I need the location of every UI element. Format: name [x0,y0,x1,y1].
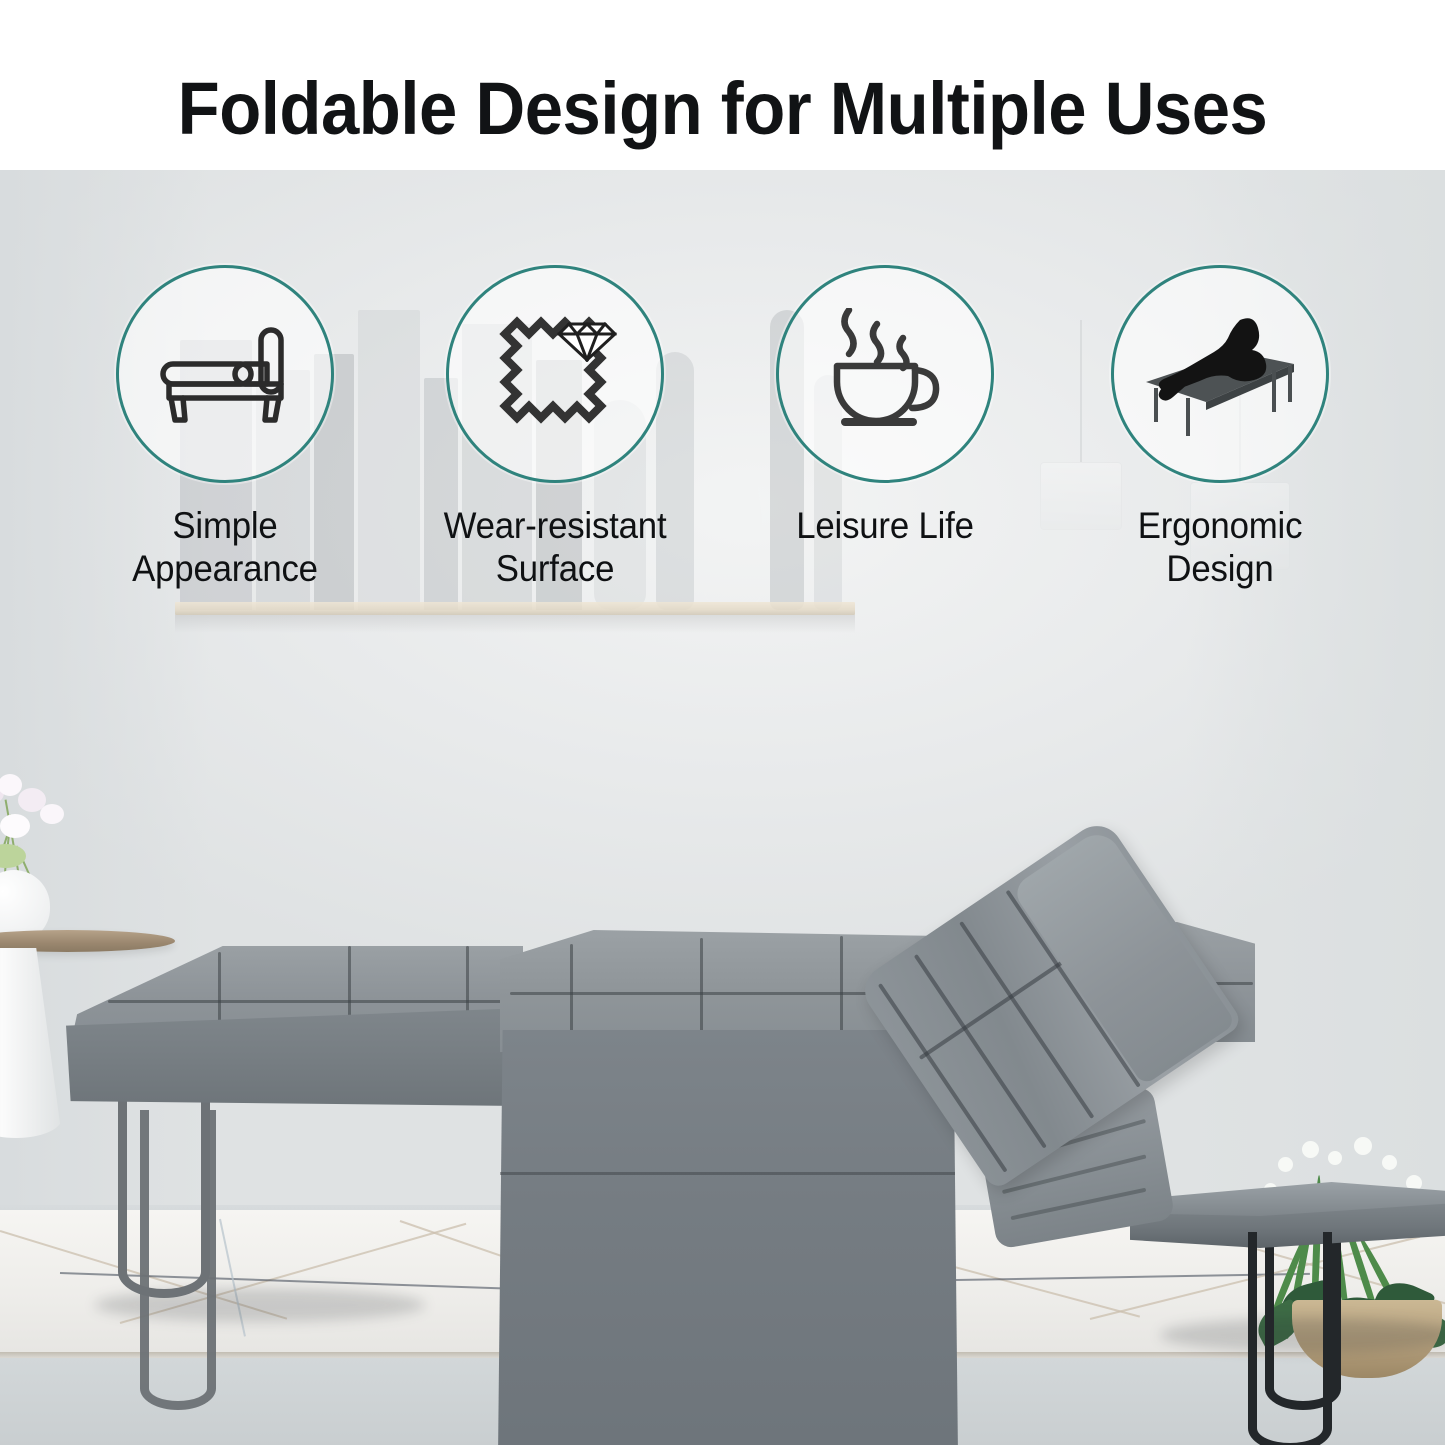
feature-label-3: Leisure Life [753,505,1016,548]
leg-rear-left [140,1110,216,1410]
feature-wear-resistant-surface[interactable]: Wear-resistant Surface [415,265,695,591]
coffee-cup-icon [819,308,951,440]
bed-icon [159,320,291,428]
leg-rear-right [1248,1232,1332,1445]
feature-circle-2 [446,265,664,483]
feature-ergonomic-design[interactable]: Ergonomic Design [1080,265,1360,591]
feature-label-1: Simple Appearance [93,505,356,591]
feature-label-4: Ergonomic Design [1088,505,1351,591]
product-feature-banner: Foldable Design for Multiple Uses [0,0,1445,1445]
feature-circle-3 [776,265,994,483]
feature-simple-appearance[interactable]: Simple Appearance [85,265,365,591]
fabric-swatch-diamond-icon [487,306,623,442]
feature-leisure-life[interactable]: Leisure Life [745,265,1025,548]
feature-label-2: Wear-resistant Surface [423,505,686,591]
center-drop-panel [498,1030,958,1445]
feature-badge-row: Simple Appearance [0,0,1445,620]
person-reclining-icon [1140,310,1300,438]
feature-circle-1 [116,265,334,483]
center-panel-seam [500,1172,955,1175]
feature-circle-4 [1111,265,1329,483]
